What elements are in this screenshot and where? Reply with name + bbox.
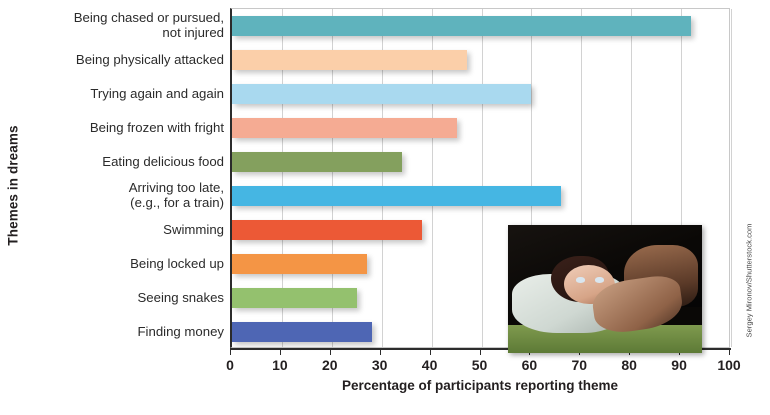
x-tick-100 bbox=[729, 348, 730, 355]
bar-1 bbox=[232, 50, 467, 70]
category-label-line1: Swimming bbox=[163, 222, 224, 237]
bar-4 bbox=[232, 152, 402, 172]
x-tick-label-0: 0 bbox=[207, 357, 253, 373]
x-axis-title: Percentage of participants reporting the… bbox=[230, 378, 730, 393]
x-tick-30 bbox=[380, 348, 381, 355]
x-tick-label-50: 50 bbox=[457, 357, 503, 373]
category-label-8: Seeing snakes bbox=[26, 290, 224, 305]
x-tick-10 bbox=[280, 348, 281, 355]
bar-fill bbox=[232, 186, 561, 206]
x-tick-0 bbox=[230, 348, 231, 355]
x-tick-label-80: 80 bbox=[606, 357, 652, 373]
category-label-5: Arriving too late,(e.g., for a train) bbox=[26, 180, 224, 210]
x-tick-label-60: 60 bbox=[506, 357, 552, 373]
bar-0 bbox=[232, 16, 691, 36]
photo-credit: Sergey Mironov/Shutterstock.com bbox=[742, 200, 756, 360]
bar-fill bbox=[232, 118, 457, 138]
photo-credit-text: Sergey Mironov/Shutterstock.com bbox=[745, 223, 754, 337]
category-label-line1: Seeing snakes bbox=[137, 290, 224, 305]
x-tick-50 bbox=[480, 348, 481, 355]
category-label-line1: Eating delicious food bbox=[102, 154, 224, 169]
x-tick-label-20: 20 bbox=[307, 357, 353, 373]
x-tick-40 bbox=[430, 348, 431, 355]
x-tick-label-40: 40 bbox=[407, 357, 453, 373]
bar-9 bbox=[232, 322, 372, 342]
category-label-1: Being physically attacked bbox=[26, 52, 224, 67]
bar-fill bbox=[232, 254, 367, 274]
bar-fill bbox=[232, 16, 691, 36]
category-label-line1: Being frozen with fright bbox=[90, 120, 224, 135]
photo-eye-left bbox=[576, 277, 585, 282]
category-label-6: Swimming bbox=[26, 222, 224, 237]
bar-chart-figure: Themes in dreams Being chased or pursued… bbox=[0, 0, 770, 415]
category-label-0: Being chased or pursued,not injured bbox=[26, 10, 224, 40]
bar-fill bbox=[232, 322, 372, 342]
category-label-line1: Arriving too late, bbox=[129, 180, 224, 195]
x-tick-label-90: 90 bbox=[656, 357, 702, 373]
inset-photo bbox=[508, 225, 702, 353]
bar-fill bbox=[232, 84, 531, 104]
bar-5 bbox=[232, 186, 561, 206]
bar-3 bbox=[232, 118, 457, 138]
category-label-line1: Finding money bbox=[138, 324, 225, 339]
photo-eye-right bbox=[595, 277, 604, 282]
x-tick-label-30: 30 bbox=[357, 357, 403, 373]
y-axis-title: Themes in dreams bbox=[0, 0, 26, 370]
bar-7 bbox=[232, 254, 367, 274]
x-tick-label-70: 70 bbox=[556, 357, 602, 373]
category-label-9: Finding money bbox=[26, 324, 224, 339]
bar-fill bbox=[232, 50, 467, 70]
category-label-4: Eating delicious food bbox=[26, 154, 224, 169]
category-label-7: Being locked up bbox=[26, 256, 224, 271]
category-label-line1: Trying again and again bbox=[90, 86, 224, 101]
x-tick-label-10: 10 bbox=[257, 357, 303, 373]
category-label-2: Trying again and again bbox=[26, 86, 224, 101]
bar-2 bbox=[232, 84, 531, 104]
category-label-line1: Being physically attacked bbox=[76, 52, 224, 67]
category-label-column: Being chased or pursued,not injuredBeing… bbox=[26, 8, 228, 348]
bar-6 bbox=[232, 220, 422, 240]
category-label-line2: (e.g., for a train) bbox=[26, 195, 224, 210]
bar-8 bbox=[232, 288, 357, 308]
category-label-line2: not injured bbox=[26, 25, 224, 40]
gridline-100 bbox=[731, 9, 732, 347]
bar-fill bbox=[232, 152, 402, 172]
category-label-line1: Being chased or pursued, bbox=[74, 10, 224, 25]
y-axis-title-text: Themes in dreams bbox=[6, 125, 21, 245]
gridline-50 bbox=[482, 9, 483, 347]
bar-fill bbox=[232, 288, 357, 308]
bar-fill bbox=[232, 220, 422, 240]
x-tick-20 bbox=[330, 348, 331, 355]
category-label-3: Being frozen with fright bbox=[26, 120, 224, 135]
category-label-line1: Being locked up bbox=[130, 256, 224, 271]
